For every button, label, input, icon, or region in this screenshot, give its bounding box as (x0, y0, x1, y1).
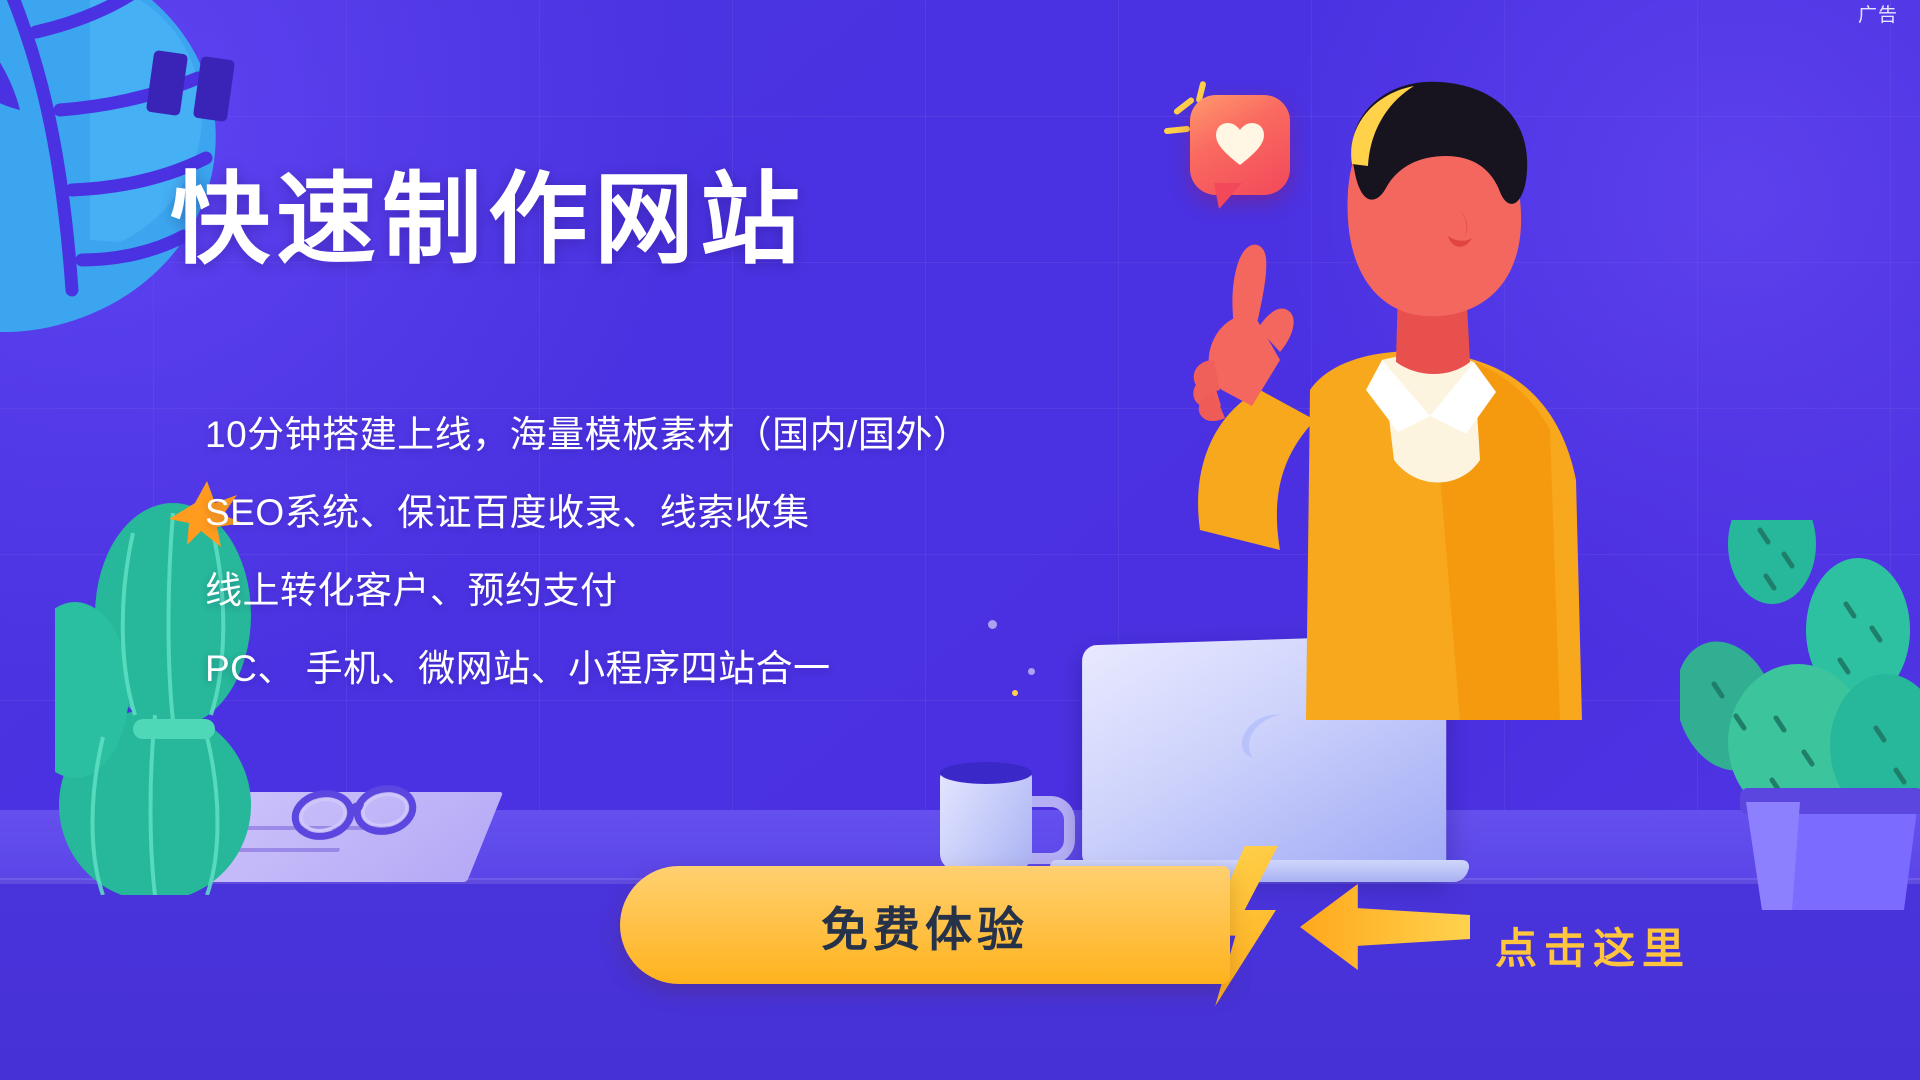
advertisement-banner: 广告 快速制作网站 10分钟搭建上线，海量模板素材（国内/国外） SEO系统、保… (0, 0, 1920, 1080)
ad-label: 广告 (1858, 6, 1898, 25)
person-illustration (1130, 60, 1650, 720)
free-trial-button[interactable]: 免费体验 (620, 866, 1230, 984)
list-item: 线上转化客户、预约支付 (205, 572, 1205, 609)
click-here-hint: 点击这里 (1495, 928, 1691, 970)
page-title: 快速制作网站 (170, 168, 806, 273)
eyeglasses-icon (290, 782, 420, 842)
potted-cactus-icon (1680, 520, 1920, 910)
list-item: SEO系统、保证百度收录、线索收集 (205, 494, 1205, 531)
list-item: PC、 手机、微网站、小程序四站合一 (205, 650, 1205, 687)
free-trial-button-label: 免费体验 (821, 891, 1029, 960)
cta-area: 免费体验 (620, 860, 1420, 990)
feature-list: 10分钟搭建上线，海量模板素材（国内/国外） SEO系统、保证百度收录、线索收集… (205, 416, 1205, 728)
list-item: 10分钟搭建上线，海量模板素材（国内/国外） (205, 416, 1205, 453)
